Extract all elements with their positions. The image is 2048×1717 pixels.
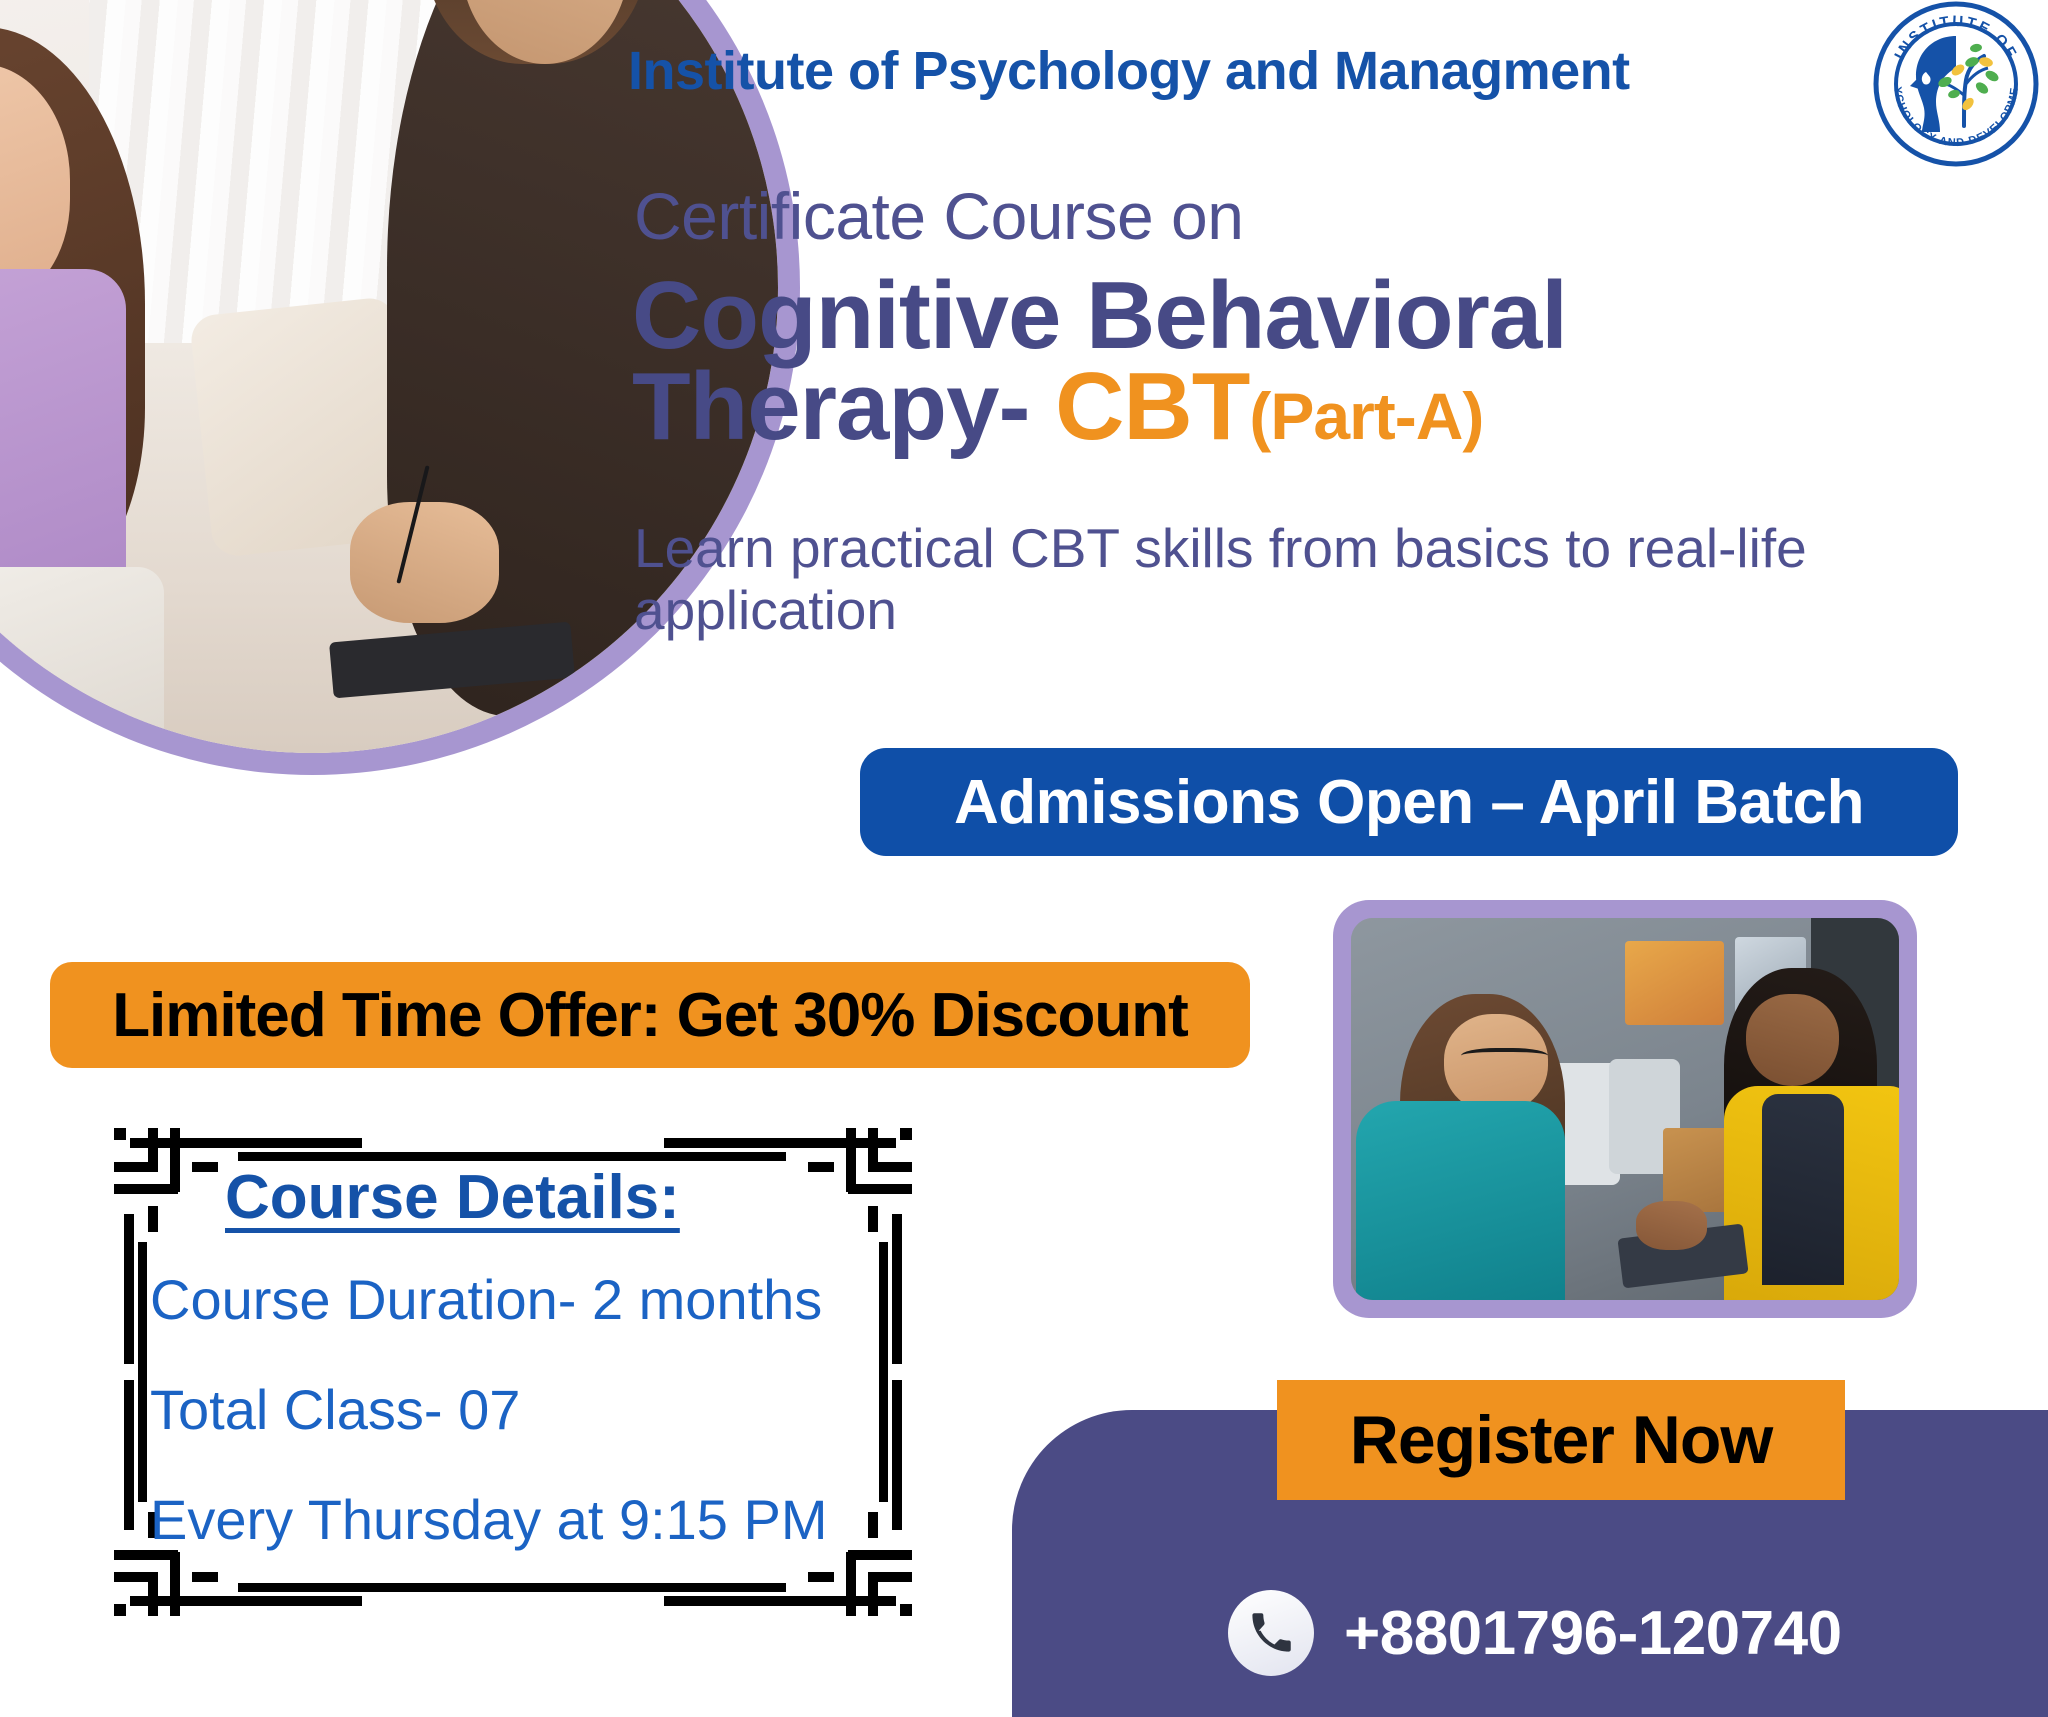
course-details-heading-text: Course Details:	[225, 1163, 680, 1232]
course-kicker: Certificate Course on	[634, 178, 1243, 254]
phone-number: +8801796-120740	[1344, 1598, 1842, 1669]
course-details-heading: Course Details:	[165, 1162, 855, 1233]
contact-phone-row[interactable]: +8801796-120740	[1228, 1590, 1842, 1676]
register-now-label: Register Now	[1350, 1401, 1773, 1479]
course-subtitle: Learn practical CBT skills from basics t…	[634, 518, 1954, 641]
course-title: Cognitive Behavioral Therapy- CBT(Part-A…	[632, 270, 1962, 452]
course-details-item-duration: Course Duration- 2 months	[150, 1272, 890, 1328]
institute-logo: INSTITUTE OF PSYCHOLOGY AND DEVELOPMENT	[1872, 0, 2040, 168]
organization-title: Institute of Psychology and Managment	[628, 40, 1878, 102]
admissions-banner: Admissions Open – April Batch	[860, 748, 1958, 856]
course-details-item-classes: Total Class- 07	[150, 1382, 890, 1438]
course-details-list: Course Duration- 2 months Total Class- 0…	[150, 1272, 890, 1602]
phone-icon	[1228, 1590, 1314, 1676]
register-now-button[interactable]: Register Now	[1277, 1380, 1845, 1500]
course-title-part: (Part-A)	[1249, 379, 1483, 453]
secondary-photo-border	[1333, 900, 1917, 1318]
flyer-canvas: Institute of Psychology and Managment	[0, 0, 2048, 1717]
secondary-photo	[1351, 918, 1899, 1300]
admissions-banner-label: Admissions Open – April Batch	[954, 767, 1864, 838]
course-title-cbt: CBT	[1055, 353, 1249, 460]
discount-banner-label: Limited Time Offer: Get 30% Discount	[112, 980, 1188, 1051]
discount-banner: Limited Time Offer: Get 30% Discount	[50, 962, 1250, 1068]
course-details-item-schedule: Every Thursday at 9:15 PM	[150, 1492, 890, 1548]
course-title-line2-prefix: Therapy-	[632, 353, 1055, 460]
